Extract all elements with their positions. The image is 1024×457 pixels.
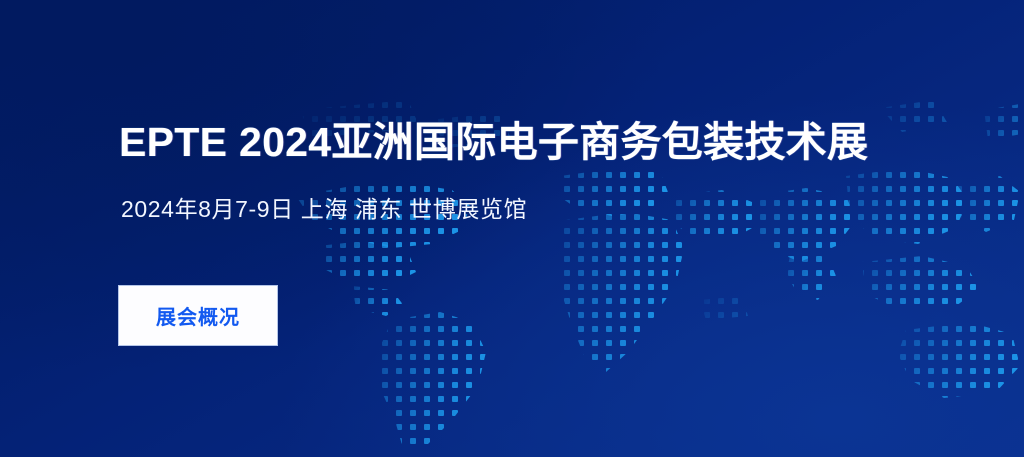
exhibition-overview-button[interactable]: 展会概况	[119, 286, 277, 345]
hero-content: EPTE 2024亚洲国际电子商务包装技术展 2024年8月7-9日 上海 浦东…	[119, 0, 999, 457]
event-hero-banner: EPTE 2024亚洲国际电子商务包装技术展 2024年8月7-9日 上海 浦东…	[0, 0, 1024, 457]
page-title: EPTE 2024亚洲国际电子商务包装技术展	[119, 120, 868, 165]
event-date-venue: 2024年8月7-9日 上海 浦东 世博展览馆	[121, 196, 527, 224]
